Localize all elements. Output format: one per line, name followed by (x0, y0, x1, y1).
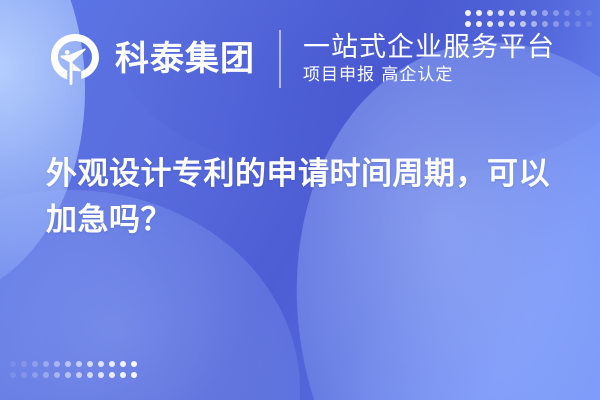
banner-header: 科泰集团 一站式企业服务平台 项目申报 高企认定 (0, 0, 600, 118)
ketai-circular-r-logo-icon (48, 32, 102, 86)
dot-bottom-left-dot (87, 372, 93, 378)
dot-bottom-left-dot (98, 361, 104, 367)
slogan-block: 一站式企业服务平台 项目申报 高企认定 (303, 33, 555, 86)
slogan-main: 一站式企业服务平台 (303, 33, 555, 63)
dot-bottom-left-dot (21, 372, 27, 378)
dot-bottom-left-row (10, 372, 137, 378)
dot-bottom-left-dot (98, 372, 104, 378)
promo-banner: 科泰集团 一站式企业服务平台 项目申报 高企认定 外观设计专利的申请时间周期，可… (0, 0, 600, 400)
dot-bottom-left-row (10, 361, 137, 367)
dot-bottom-left-dot (54, 372, 60, 378)
dot-bottom-left-dot (32, 361, 38, 367)
dot-bottom-left-dot (10, 372, 16, 378)
dot-bottom-left-dot (43, 361, 49, 367)
dot-bottom-left-dot (43, 372, 49, 378)
slogan-sub: 项目申报 高企认定 (303, 66, 555, 86)
dot-bottom-left-dot (76, 372, 82, 378)
brand-name: 科泰集团 (115, 42, 255, 76)
dot-bottom-left-dot (120, 361, 126, 367)
dot-bottom-left-dot (109, 372, 115, 378)
dot-matrix-bottom-left (10, 361, 137, 378)
dot-bottom-left-dot (32, 372, 38, 378)
page-title: 外观设计专利的申请时间周期，可以加急吗？ (46, 152, 556, 244)
dot-bottom-left-dot (65, 372, 71, 378)
dot-bottom-left-dot (131, 372, 137, 378)
dot-bottom-left-dot (131, 361, 137, 367)
brand-lockup: 科泰集团 (48, 32, 255, 86)
dot-bottom-left-dot (10, 361, 16, 367)
dot-bottom-left-dot (87, 361, 93, 367)
dot-bottom-left-dot (109, 361, 115, 367)
dot-bottom-left-dot (76, 361, 82, 367)
dot-bottom-left-dot (120, 372, 126, 378)
header-divider (279, 30, 281, 88)
dot-bottom-left-dot (54, 361, 60, 367)
dot-bottom-left-dot (21, 361, 27, 367)
dot-bottom-left-dot (65, 361, 71, 367)
